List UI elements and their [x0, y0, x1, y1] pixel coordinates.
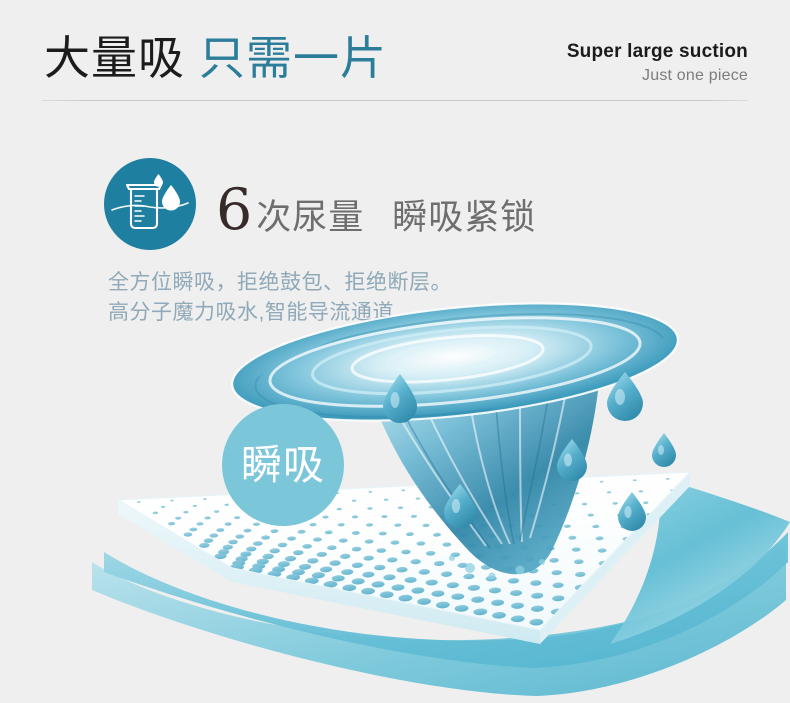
feature-text-secondary: 瞬吸紧锁 [392, 198, 536, 238]
english-subheadline: Just one piece [567, 66, 748, 86]
headline-accent: 只需一片 [199, 32, 387, 84]
english-caption-block: Super large suction Just one piece [567, 40, 748, 86]
product-feature-banner: 大量吸只需一片 Super large suction Just one pie… [0, 0, 790, 703]
instant-absorb-badge: 瞬吸 [222, 404, 344, 526]
english-headline: Super large suction [567, 40, 748, 64]
header-divider [42, 100, 748, 101]
beaker-with-droplets-icon [104, 158, 196, 250]
feature-number: 6 [216, 182, 252, 239]
droplet [652, 433, 676, 467]
badge-label: 瞬吸 [241, 445, 325, 486]
absorbent-pad-illustration [0, 300, 790, 703]
feature-text-primary: 次尿量 [256, 198, 364, 238]
headline-primary: 大量吸 [44, 32, 185, 84]
page-title: 大量吸只需一片 [44, 30, 387, 86]
description-line-1: 全方位瞬吸，拒绝鼓包、拒绝断层。 [108, 268, 452, 298]
feature-headline: 6 次尿量 瞬吸紧锁 [216, 182, 536, 239]
